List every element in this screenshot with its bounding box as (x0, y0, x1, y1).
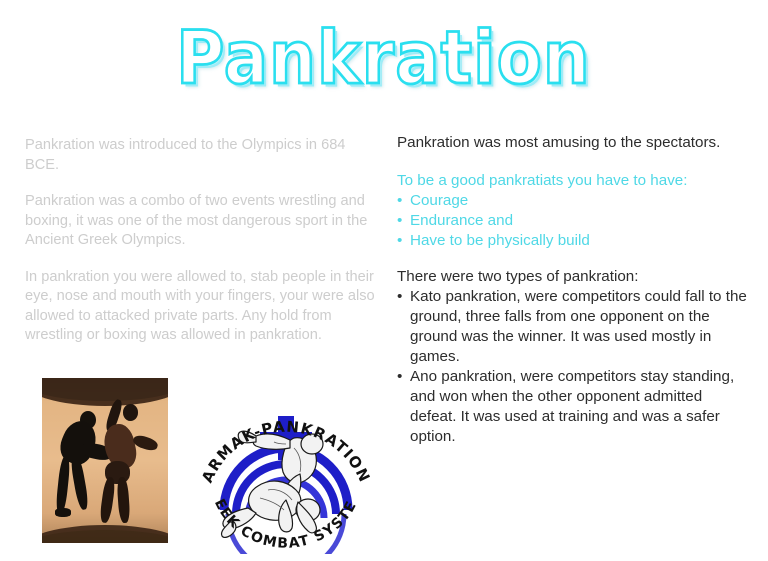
list-item: Endurance and (397, 211, 749, 231)
left-paragraph-1: Pankration was introduced to the Olympic… (25, 136, 375, 175)
list-item: Ano pankration, were competitors stay st… (397, 367, 749, 447)
armak-pankration-logo: ARMAK-PANKRATION GREEK COMBAT SYSTEMS (190, 382, 382, 554)
slide-canvas: Pankration Pankration was introduced to … (0, 0, 768, 561)
greek-vase-pankratiasts-photo (42, 378, 168, 543)
vase-rim-top (42, 378, 168, 406)
qualities-block: To be a good pankratiats you have to hav… (397, 171, 749, 251)
list-item: Courage (397, 191, 749, 211)
page-title: Pankration (177, 18, 591, 98)
qualities-list: Courage Endurance and Have to be physica… (397, 191, 749, 251)
right-text-column: Pankration was most amusing to the spect… (397, 133, 749, 447)
list-item: Have to be physically build (397, 231, 749, 251)
left-paragraph-2: Pankration was a combo of two events wre… (25, 192, 375, 251)
vase-figure-right-head (123, 404, 138, 421)
types-heading: There were two types of pankration: (397, 267, 749, 288)
list-item: Kato pankration, were competitors could … (397, 287, 749, 367)
title-container: Pankration (0, 18, 768, 86)
left-paragraph-3: In pankration you were allowed to, stab … (25, 268, 375, 346)
types-block: There were two types of pankration: Kato… (397, 267, 749, 448)
left-text-column: Pankration was introduced to the Olympic… (25, 136, 375, 363)
qualities-heading: To be a good pankratiats you have to hav… (397, 171, 749, 191)
vase-figure-left-foot (55, 508, 71, 516)
vase-artwork (42, 378, 168, 543)
types-list: Kato pankration, were competitors could … (397, 287, 749, 447)
right-intro-paragraph: Pankration was most amusing to the spect… (397, 133, 749, 154)
